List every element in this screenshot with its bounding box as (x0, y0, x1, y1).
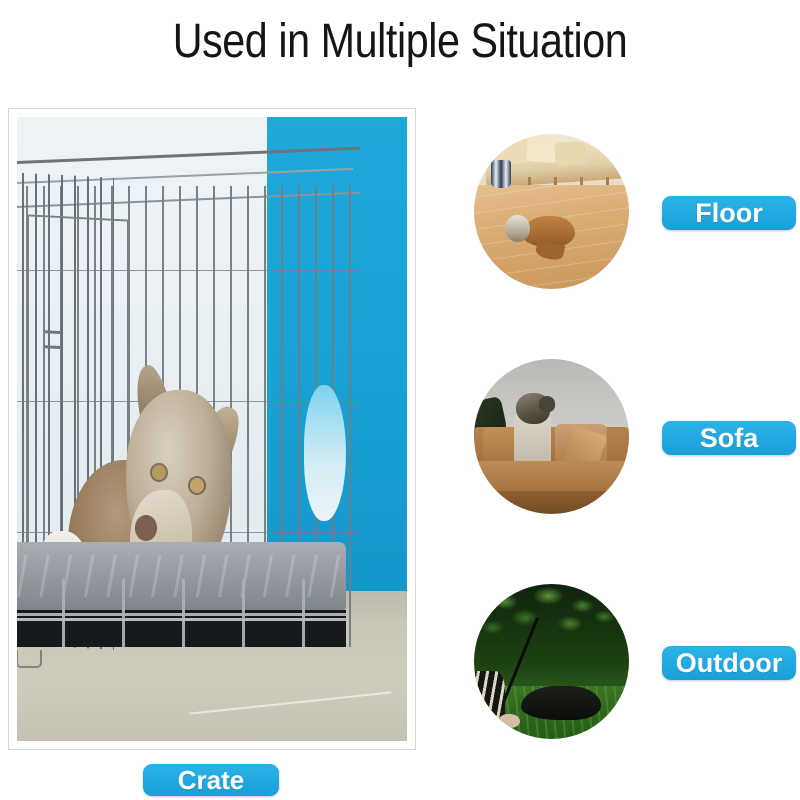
badge-sofa-label: Sofa (700, 425, 759, 452)
crate-leg (17, 650, 42, 668)
badge-outdoor[interactable]: Outdoor (662, 646, 796, 680)
crate-door-latch-lower (44, 346, 60, 350)
badge-crate-label: Crate (178, 767, 244, 793)
floor-scene-cushion-3 (554, 141, 586, 166)
blue-plush-toy (304, 385, 346, 521)
sofa-scene-dog-ear (539, 396, 555, 412)
badge-floor-label: Floor (695, 200, 763, 227)
floor-scene-striped-basket (491, 160, 511, 188)
outdoor-scene-dog (521, 686, 602, 720)
dog-nose (135, 515, 157, 540)
main-image-frame (8, 108, 416, 750)
product-feature-image: Used in Multiple Situation (0, 0, 800, 800)
thumbnail-sofa[interactable] (474, 359, 629, 514)
sofa-scene-base (474, 491, 629, 514)
badge-outdoor-label: Outdoor (676, 650, 782, 677)
crate-door-latch-upper (44, 331, 60, 335)
page-title: Used in Multiple Situation (56, 14, 744, 69)
crate-base-bars (17, 579, 346, 647)
floor-scene-dog-head (505, 215, 530, 243)
badge-sofa[interactable]: Sofa (662, 421, 796, 455)
badge-crate[interactable]: Crate (143, 764, 279, 796)
badge-floor[interactable]: Floor (662, 196, 796, 230)
thumbnail-floor[interactable] (474, 134, 629, 289)
outdoor-scene-foliage (474, 584, 629, 683)
thumbnail-outdoor[interactable] (474, 584, 629, 739)
crate-base-rail-lower (17, 618, 346, 621)
wire-crate (17, 154, 360, 678)
floor-scene-cushion-2 (526, 136, 559, 163)
main-photo-crate (17, 117, 407, 741)
